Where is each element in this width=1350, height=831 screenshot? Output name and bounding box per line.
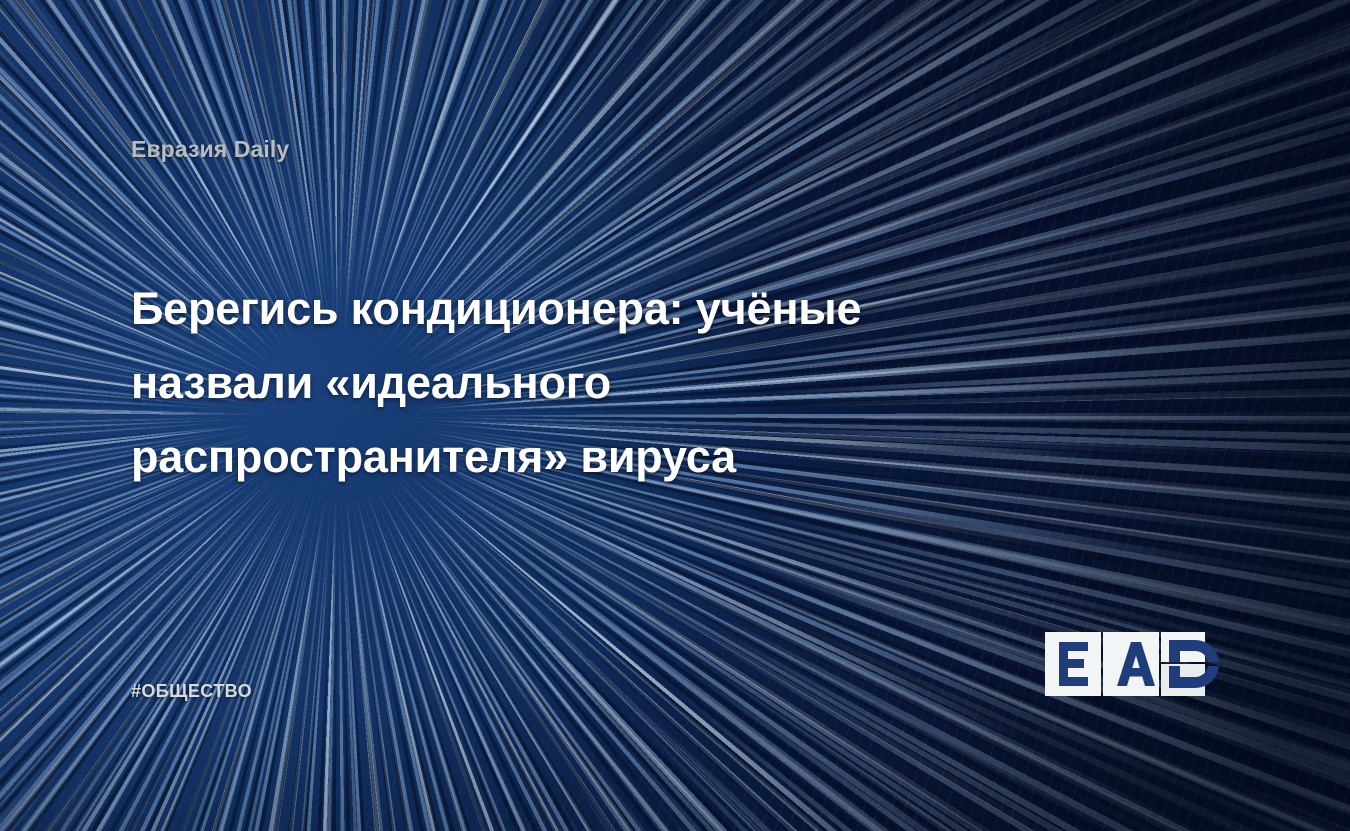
logo-letter-e	[1059, 642, 1088, 686]
category-tag: #ОБЩЕСТВО	[131, 681, 252, 702]
headline: Берегись кондиционера: учёные назвали «и…	[131, 272, 1031, 494]
social-share-card: Евразия Daily Берегись кондиционера: учё…	[0, 0, 1350, 831]
eadaily-logo	[1045, 632, 1221, 696]
brand-name: Евразия Daily	[131, 136, 289, 163]
card-content: Евразия Daily Берегись кондиционера: учё…	[0, 0, 1350, 831]
